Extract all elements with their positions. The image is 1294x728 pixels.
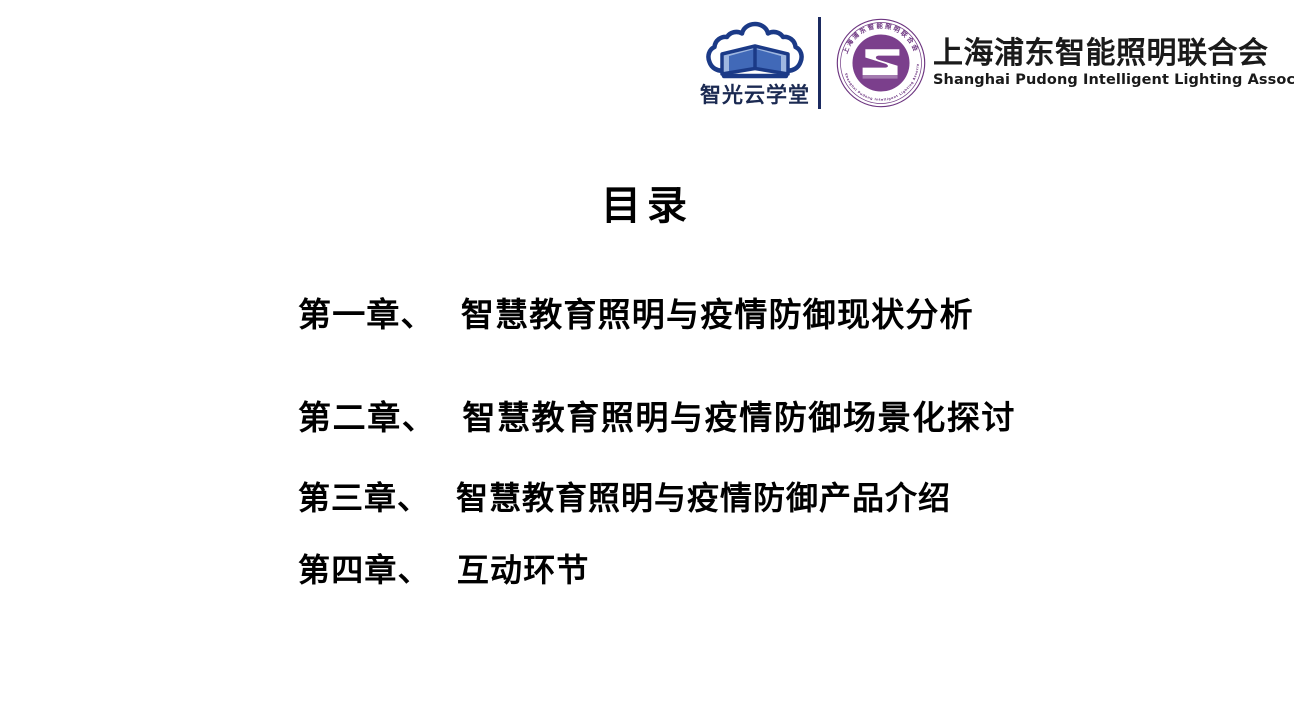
logo-divider: [818, 17, 821, 109]
toc-item-chapter-1[interactable]: 第一章 、 智慧教育照明与疫情防御现状分析: [298, 288, 1238, 336]
association-name-en: Shanghai Pudong Intelligent Lighting Ass…: [933, 73, 1294, 88]
toc-item-chapter-2[interactable]: 第二章 、 智慧教育照明与疫情防御场景化探讨: [298, 391, 1238, 439]
toc-item-separator: 、: [398, 545, 431, 591]
toc-item-separator: 、: [401, 288, 435, 336]
toc-item-title: 智慧教育照明与疫情防御现状分析: [461, 288, 974, 336]
cloud-book-icon: [703, 21, 807, 83]
association-name-cn: 上海浦东智能照明联合会: [933, 38, 1294, 70]
toc-item-separator: 、: [397, 473, 430, 519]
page-title: 目录: [0, 182, 1294, 230]
toc-item-chapter-4[interactable]: 第四章 、 互动环节: [298, 545, 1238, 591]
toc-item-title: 智慧教育照明与疫情防御产品介绍: [456, 473, 951, 519]
toc-item-label: 第一章: [298, 288, 401, 336]
table-of-contents: 第一章 、 智慧教育照明与疫情防御现状分析 第二章 、 智慧教育照明与疫情防御场…: [298, 288, 1238, 591]
brand-spila: 上海浦东智能照明联合会 Shanghai Pudong Intelligent …: [835, 17, 1294, 109]
toc-item-label: 第二章: [298, 391, 402, 439]
presentation-slide: 智光云学堂 上海浦东智能照明联合会: [0, 0, 1294, 728]
circular-association-emblem-icon: 上海浦东智能照明联合会 Shanghai Pudong Intelligent …: [835, 17, 927, 109]
toc-item-label: 第四章: [298, 545, 398, 591]
toc-item-title: 智慧教育照明与疫情防御场景化探讨: [462, 391, 1016, 439]
brand-zhiguang-yunxuetang: 智光云学堂: [700, 21, 810, 106]
toc-item-separator: 、: [402, 391, 437, 439]
toc-item-chapter-3[interactable]: 第三章 、 智慧教育照明与疫情防御产品介绍: [298, 473, 1238, 519]
brand-left-wordmark: 智光云学堂: [700, 85, 810, 106]
header-logo-lockup: 智光云学堂 上海浦东智能照明联合会: [700, 8, 1260, 118]
brand-right-text-block: 上海浦东智能照明联合会 Shanghai Pudong Intelligent …: [933, 38, 1294, 88]
toc-item-title: 互动环节: [457, 545, 590, 591]
toc-item-label: 第三章: [298, 473, 397, 519]
